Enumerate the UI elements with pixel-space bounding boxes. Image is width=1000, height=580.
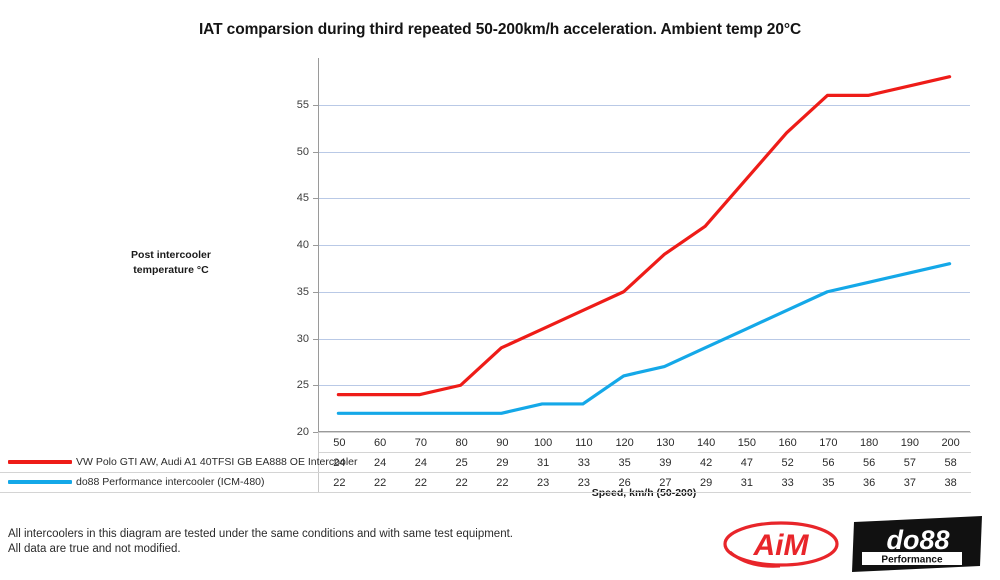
aim-logo: AiM	[722, 518, 840, 570]
table-row-series-oe-label: VW Polo GTI AW, Audi A1 40TFSI GB EA888 …	[0, 453, 319, 473]
table-cell: 33	[564, 453, 605, 473]
plot-area: 2025303540455055	[318, 58, 970, 432]
y-tick-label: 55	[297, 99, 309, 111]
table-cell: 22	[441, 473, 482, 493]
table-cell: 25	[441, 453, 482, 473]
table-cell: 24	[401, 453, 442, 473]
y-tick-label: 40	[297, 239, 309, 251]
table-cell: 29	[686, 473, 727, 493]
do88-logo-sub: Performance	[881, 555, 943, 566]
table-cell: 23	[564, 473, 605, 493]
table-cell: 33	[767, 473, 808, 493]
y-axis-title: Post intercooler temperature °C	[106, 248, 236, 278]
legend-label: do88 Performance intercooler (ICM-480)	[76, 477, 265, 489]
y-tick-label: 50	[297, 146, 309, 158]
table-cell: 26	[604, 473, 645, 493]
table-cell: 22	[482, 473, 523, 493]
table-cell: 190	[890, 433, 931, 453]
footer-line-1: All intercoolers in this diagram are tes…	[8, 527, 513, 542]
table-cell: 150	[727, 433, 768, 453]
table-cell: 110	[564, 433, 605, 453]
do88-logo-main: do88	[886, 525, 949, 555]
data-table: 5060708090100110120130140150160170180190…	[0, 432, 971, 493]
table-cell: 80	[441, 433, 482, 453]
table-cell: 180	[849, 433, 890, 453]
aim-logo-text: AiM	[753, 529, 810, 562]
table-cell: 56	[849, 453, 890, 473]
table-cell: 23	[523, 473, 564, 493]
table-cell: 52	[767, 453, 808, 473]
table-cell: 22	[360, 473, 401, 493]
footer-note: All intercoolers in this diagram are tes…	[8, 527, 513, 557]
y-tick-label: 30	[297, 333, 309, 345]
series-line-oe	[338, 77, 949, 395]
table-cell: 140	[686, 433, 727, 453]
table-cell: 200	[930, 433, 971, 453]
table-cell: 39	[645, 453, 686, 473]
table-cell: 36	[849, 473, 890, 493]
table-cell: 60	[360, 433, 401, 453]
table-cell: 42	[686, 453, 727, 473]
y-tick-label: 25	[297, 379, 309, 391]
table-row-series-do88: do88 Performance intercooler (ICM-480)22…	[0, 473, 971, 493]
y-axis-title-line1: Post intercooler	[106, 248, 236, 263]
table-cell: 90	[482, 433, 523, 453]
table-cell: 57	[890, 453, 931, 473]
footer-line-2: All data are true and not modified.	[8, 542, 513, 557]
y-axis-title-line2: temperature °C	[106, 263, 236, 278]
do88-logo: do88 Performance	[852, 516, 984, 572]
table-cell: 29	[482, 453, 523, 473]
table-cell: 58	[930, 453, 971, 473]
table-cell: 170	[808, 433, 849, 453]
table-cell: 24	[360, 453, 401, 473]
table-cell: 22	[319, 473, 360, 493]
series-lines	[318, 58, 970, 432]
table-cell: 37	[890, 473, 931, 493]
chart-title: IAT comparsion during third repeated 50-…	[0, 21, 1000, 39]
table-cell: 31	[523, 453, 564, 473]
table-cell: 35	[808, 473, 849, 493]
table-cell: 50	[319, 433, 360, 453]
y-tick-label: 35	[297, 286, 309, 298]
table-cell: 38	[930, 473, 971, 493]
table-cell: 120	[604, 433, 645, 453]
table-cell: 47	[727, 453, 768, 473]
table-row-speeds-label	[0, 433, 319, 453]
table-cell: 100	[523, 433, 564, 453]
table-row-series-oe: VW Polo GTI AW, Audi A1 40TFSI GB EA888 …	[0, 453, 971, 473]
table-cell: 35	[604, 453, 645, 473]
legend-swatch	[8, 460, 72, 464]
legend-label: VW Polo GTI AW, Audi A1 40TFSI GB EA888 …	[76, 457, 358, 469]
table-cell: 160	[767, 433, 808, 453]
table-cell: 70	[401, 433, 442, 453]
table-cell: 31	[727, 473, 768, 493]
table-row-speeds: 5060708090100110120130140150160170180190…	[0, 433, 971, 453]
table-cell: 56	[808, 453, 849, 473]
y-tick-label: 45	[297, 192, 309, 204]
legend-swatch	[8, 480, 72, 484]
table-cell: 27	[645, 473, 686, 493]
table-cell: 22	[401, 473, 442, 493]
data-table-body: 5060708090100110120130140150160170180190…	[0, 433, 971, 493]
table-row-series-do88-label: do88 Performance intercooler (ICM-480)	[0, 473, 319, 493]
table-cell: 130	[645, 433, 686, 453]
